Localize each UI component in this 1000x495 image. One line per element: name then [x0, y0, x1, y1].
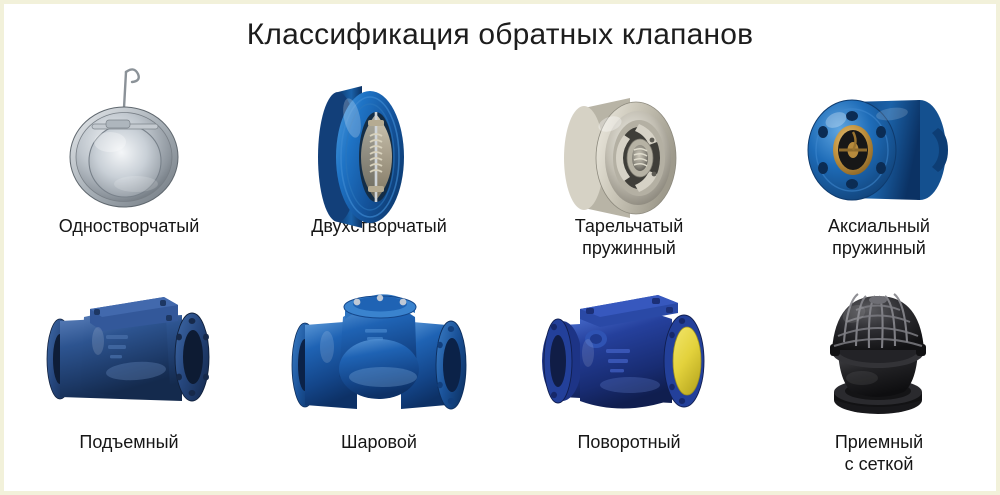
- valve-card-2[interactable]: Двухстворчатый: [254, 62, 504, 272]
- valve-label-3: Тарельчатый пружинный: [575, 216, 684, 260]
- ball-check-valve-icon: [279, 277, 479, 422]
- valve-card-5[interactable]: Подъемный: [4, 274, 254, 484]
- foot-valve-with-strainer-icon: [792, 274, 967, 424]
- single-disc-wafer-check-valve-icon: [44, 62, 214, 212]
- valve-card-8[interactable]: Приемный с сеткой: [754, 274, 1000, 484]
- valve-figure-3: [504, 62, 754, 212]
- valve-label-4: Аксиальный пружинный: [828, 216, 930, 260]
- valve-row-2: Подъемный: [4, 274, 1000, 484]
- valve-figure-8: [754, 274, 1000, 424]
- valve-figure-6: [254, 274, 504, 424]
- lift-check-valve-icon: [32, 279, 227, 419]
- poster: Классификация обратных клапанов: [0, 0, 1000, 495]
- valve-figure-2: [254, 62, 504, 212]
- valve-row-1: Одностворчатый: [4, 62, 1000, 272]
- valve-figure-5: [4, 274, 254, 424]
- valve-label-6: Шаровой: [341, 432, 417, 454]
- valve-label-8: Приемный с сеткой: [835, 432, 923, 476]
- valve-card-1[interactable]: Одностворчатый: [4, 62, 254, 272]
- valve-card-3[interactable]: Тарельчатый пружинный: [504, 62, 754, 272]
- valve-grid: Одностворчатый: [4, 62, 1000, 492]
- valve-figure-7: [504, 274, 754, 424]
- poster-background: Классификация обратных клапанов: [4, 4, 996, 491]
- valve-figure-1: [4, 62, 254, 212]
- axial-spring-check-valve-icon: [792, 62, 967, 212]
- valve-label-7: Поворотный: [577, 432, 680, 454]
- dual-plate-wafer-check-valve-icon: [292, 62, 467, 212]
- valve-card-4[interactable]: Аксиальный пружинный: [754, 62, 1000, 272]
- valve-label-1: Одностворчатый: [59, 216, 200, 238]
- page-title: Классификация обратных клапанов: [4, 18, 996, 51]
- valve-figure-4: [754, 62, 1000, 212]
- valve-label-5: Подъемный: [79, 432, 178, 454]
- swing-check-valve-icon: [532, 277, 727, 422]
- disc-spring-check-valve-icon: [544, 62, 714, 212]
- valve-card-7[interactable]: Поворотный: [504, 274, 754, 484]
- valve-card-6[interactable]: Шаровой: [254, 274, 504, 484]
